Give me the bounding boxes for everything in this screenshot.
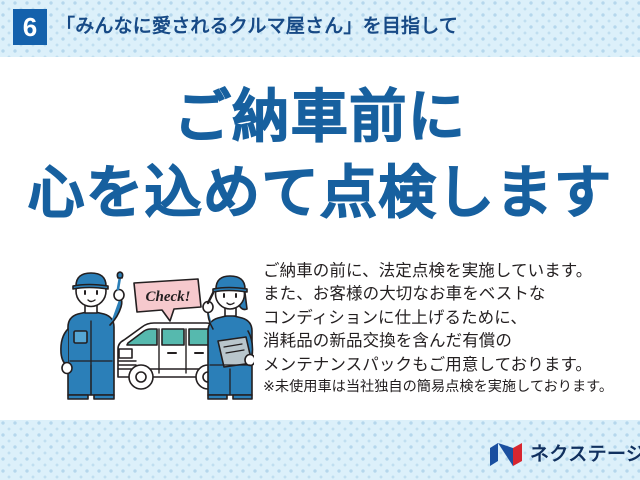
mechanic-left-figure: [61, 272, 124, 399]
headline-line-2: 心を込めて点検します: [0, 155, 640, 231]
body-line-1: ご納車の前に、法定点検を実施しています。: [263, 260, 623, 283]
advertisement-slide: 6 「みんなに愛されるクルマ屋さん」を目指して ご納車前に 心を込めて点検します…: [0, 0, 640, 480]
body-note-line: ※未使用車は当社独自の簡易点検を実施しております。: [263, 377, 623, 398]
body-line-5: メンテナンスパックもご用意しております。: [263, 354, 623, 377]
mechanics-inspecting-van-illustration: Check!: [58, 265, 254, 400]
body-line-4: 消耗品の新品交換を含んだ有償の: [263, 330, 623, 353]
body-line-3: コンディションに仕上げるために、: [263, 307, 623, 330]
body-line-2: また、お客様の大切なお車をベストな: [263, 283, 623, 306]
header-title: 「みんなに愛されるクルマ屋さん」を目指して: [56, 11, 458, 43]
body-text-block: ご納車の前に、法定点検を実施しています。 また、お客様の大切なお車をベストな コ…: [263, 260, 623, 398]
mechanic-right-figure: [203, 276, 254, 399]
nextage-brand-logo: ネクステージ: [489, 440, 640, 468]
nextage-n-mark-icon: [489, 442, 523, 467]
headline: ご納車前に 心を込めて点検します: [0, 79, 640, 231]
header-bar: 6 「みんなに愛されるクルマ屋さん」を目指して: [0, 0, 640, 57]
check-bubble-text: Check!: [146, 289, 191, 305]
brand-name-text: ネクステージ: [530, 442, 640, 467]
section-number-badge: 6: [13, 9, 47, 45]
headline-line-1: ご納車前に: [0, 79, 640, 155]
content-panel: ご納車前に 心を込めて点検します ご納車の前に、法定点検を実施しています。 また…: [0, 57, 640, 420]
